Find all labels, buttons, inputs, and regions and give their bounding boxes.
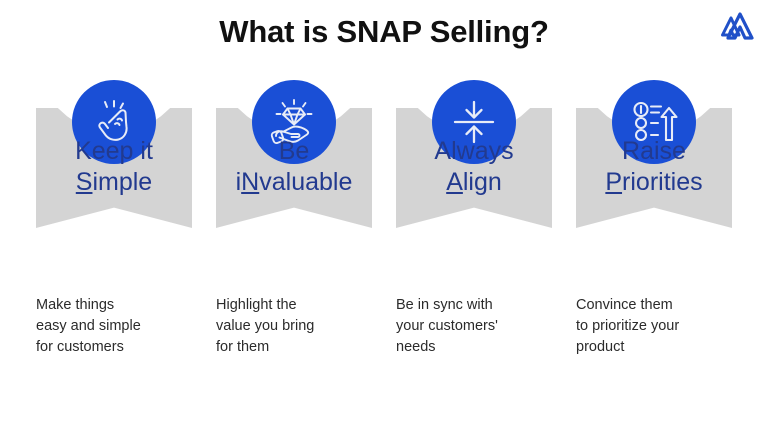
heading-acronym-letter: S xyxy=(76,168,93,196)
banner-wrap: Keep itSimple xyxy=(30,80,198,280)
heading-line-1: Always xyxy=(434,137,513,165)
column-raise-priorities: RaisePriorities Convince them to priorit… xyxy=(570,80,738,280)
column-keep-it-simple: Keep itSimple Make things easy and simpl… xyxy=(30,80,198,280)
page-title: What is SNAP Selling? xyxy=(0,14,768,50)
body-text: Be in sync with your customers' needs xyxy=(396,295,558,358)
heading-line-1: Be xyxy=(279,137,310,165)
body-text: Make things easy and simple for customer… xyxy=(36,295,198,358)
column-always-align: AlwaysAlign Be in sync with your custome… xyxy=(390,80,558,280)
column-be-invaluable: BeiNvaluable Highlight the value you bri… xyxy=(210,80,378,280)
banner-wrap: AlwaysAlign xyxy=(390,80,558,280)
heading-keep-it-simple: Keep itSimple xyxy=(30,136,198,198)
heading-line-2-post: imple xyxy=(92,168,152,196)
banner-wrap: RaisePriorities xyxy=(570,80,738,280)
body-text: Convince them to prioritize your product xyxy=(576,295,738,358)
heading-line-2-post: valuable xyxy=(259,168,352,196)
heading-line-1: Raise xyxy=(622,137,686,165)
heading-raise-priorities: RaisePriorities xyxy=(570,136,738,198)
mountain-logo-icon xyxy=(720,11,754,41)
heading-acronym-letter: N xyxy=(241,168,259,196)
heading-always-align: AlwaysAlign xyxy=(390,136,558,198)
heading-acronym-letter: P xyxy=(605,168,622,196)
heading-be-invaluable: BeiNvaluable xyxy=(210,136,378,198)
heading-acronym-letter: A xyxy=(446,168,463,196)
heading-line-2-post: lign xyxy=(463,168,502,196)
heading-line-2-post: riorities xyxy=(622,168,703,196)
banner-wrap: BeiNvaluable xyxy=(210,80,378,280)
heading-line-1: Keep it xyxy=(75,137,153,165)
slide-canvas: What is SNAP Selling? xyxy=(0,0,768,432)
columns-container: Keep itSimple Make things easy and simpl… xyxy=(0,80,768,280)
body-text: Highlight the value you bring for them xyxy=(216,295,378,358)
